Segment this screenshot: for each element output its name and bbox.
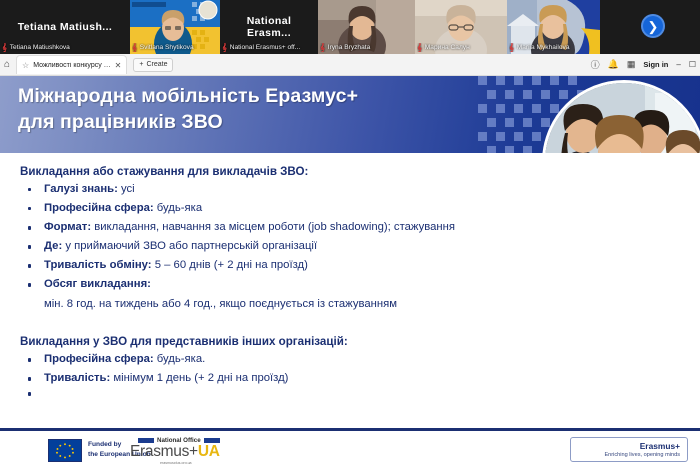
screen-root: Tetiana Matiush... 𝄞 Tetiana Matiushkova	[0, 0, 700, 464]
slide-title-line-2: для працівників ЗВО	[18, 109, 518, 135]
bullet-value: будь-яка.	[154, 353, 206, 365]
bell-icon[interactable]: 🔔	[608, 59, 619, 70]
list-item: Де: у приймаючий ЗВО або партнерській ор…	[14, 238, 686, 256]
participant-name-bar: 𝄞 Iryna Bryzhata	[320, 43, 413, 52]
slide-body: Викладання або стажування для викладачів…	[0, 153, 700, 398]
muted-mic-icon: 𝄞	[222, 44, 227, 52]
minimize-icon[interactable]: –	[676, 60, 680, 69]
badge-tagline: Enriching lives, opening minds	[604, 451, 680, 459]
participant-tile-5[interactable]: 𝄞 Марина Салун	[415, 0, 507, 54]
bullet-value: усі	[118, 183, 135, 195]
participant-name-bar: 𝄞 Mariia Mykhailova	[509, 43, 598, 52]
participant-name-label: Iryna Bryzhata	[328, 43, 371, 52]
muted-mic-icon: 𝄞	[2, 44, 7, 52]
bullet-list-1: Галузі знань: усі Професійна сфера: будь…	[14, 181, 686, 294]
apps-grid-icon[interactable]: ▦	[627, 59, 636, 70]
participant-name-bar: 𝄞 Svitlana Shytikova	[132, 43, 218, 52]
participant-name-label: Svitlana Shytikova	[140, 43, 194, 52]
participant-name-bar: 𝄞 Марина Салун	[417, 43, 505, 52]
bullet-value: викладання, навчання за місцем роботи (j…	[91, 221, 455, 233]
plus-icon: +	[139, 61, 143, 68]
browser-tab-title: Можливості конкурсу …	[33, 62, 110, 69]
list-item: Обсяг викладання:	[14, 276, 686, 294]
bullet-list-2: Професійна сфера: будь-яка. Тривалість: …	[14, 351, 686, 388]
participant-name-label: Tetiana Matiushkova	[10, 43, 70, 52]
muted-mic-icon: 𝄞	[509, 44, 514, 52]
participant-name-label: National Erasmus+ off...	[230, 43, 300, 52]
bullet-label: Тривалість обміну:	[44, 259, 152, 271]
bullet-label: Професійна сфера:	[44, 202, 154, 214]
erasmus-word: Erasmus+	[130, 443, 198, 460]
list-item: Професійна сфера: будь-яка.	[14, 351, 686, 369]
next-participants-button[interactable]: ❯	[641, 14, 665, 38]
participant-tile-1[interactable]: Tetiana Matiush... 𝄞 Tetiana Matiushkova	[0, 0, 130, 54]
home-icon[interactable]: ⌂	[4, 59, 10, 70]
bullet-label: Професійна сфера:	[44, 353, 154, 365]
badge-title: Erasmus+	[640, 441, 680, 451]
list-item: Формат: викладання, навчання за місцем р…	[14, 219, 686, 237]
list-item: Тривалість: мінімум 1 день (+ 2 дні на п…	[14, 370, 686, 388]
slide-footer: Funded by the European Union National Of…	[0, 428, 700, 464]
participant-name-label: Mariia Mykhailova	[517, 43, 570, 52]
list-item: Галузі знань: усі	[14, 181, 686, 199]
participant-tile-4[interactable]: 𝄞 Iryna Bryzhata	[318, 0, 415, 54]
erasmus-ua-wordmark: Erasmus+UA	[130, 443, 220, 461]
muted-mic-icon: 𝄞	[132, 44, 137, 52]
bullet-value: 5 – 60 днів (+ 2 дні на проїзд)	[152, 259, 308, 271]
maximize-icon[interactable]: ☐	[689, 60, 696, 69]
bullet-value: мінімум 1 день (+ 2 дні на проїзд)	[110, 372, 288, 384]
new-tab-button[interactable]: + Create	[133, 58, 173, 72]
browser-tab-bar: ⌂ ☆ Можливості конкурсу … ✕ + Create ⓘ 🔔…	[0, 54, 700, 76]
browser-tab-active[interactable]: ☆ Можливості конкурсу … ✕	[16, 55, 127, 74]
bullet-label: Галузі знань:	[44, 183, 118, 195]
browser-toolbar-right: ⓘ 🔔 ▦ Sign in – ☐	[591, 58, 696, 71]
national-office-logo: National Office Erasmus+UA erasmusplus.o…	[130, 437, 250, 464]
bullet-label: Тривалість:	[44, 372, 110, 384]
muted-mic-icon: 𝄞	[417, 44, 422, 52]
help-circle-icon[interactable]: ⓘ	[591, 58, 600, 71]
star-icon: ☆	[22, 61, 29, 70]
close-icon[interactable]: ✕	[115, 61, 122, 70]
erasmus-ua-suffix: UA	[198, 443, 220, 460]
list-item: Професійна сфера: будь-яка	[14, 200, 686, 218]
participant-tile-3[interactable]: National Erasm... 𝄞 National Erasmus+ of…	[220, 0, 318, 54]
eu-flag-icon	[48, 439, 82, 462]
muted-mic-icon: 𝄞	[320, 44, 325, 52]
participant-name-label: Марина Салун	[425, 43, 470, 52]
bullet-value: будь-яка	[154, 202, 202, 214]
participant-tile-2[interactable]: 𝄞 Svitlana Shytikova	[130, 0, 220, 54]
section-heading-1: Викладання або стажування для викладачів…	[20, 165, 686, 178]
slide-title-line-1: Міжнародна мобільність Еразмус+	[18, 83, 518, 109]
page-title: Міжнародна мобільність Еразмус+ для прац…	[18, 83, 518, 135]
participant-tile-6[interactable]: 𝄞 Mariia Mykhailova	[507, 0, 600, 54]
bullet-label: Де:	[44, 240, 62, 252]
bullet-label: Формат:	[44, 221, 91, 233]
presentation-slide: Міжнародна мобільність Еразмус+ для прац…	[0, 76, 700, 464]
list-item: Тривалість обміну: 5 – 60 днів (+ 2 дні …	[14, 257, 686, 275]
bullet-label: Обсяг викладання:	[44, 278, 151, 290]
new-tab-label: Create	[146, 61, 167, 68]
chevron-right-icon: ❯	[648, 20, 659, 33]
list-item-truncated	[14, 389, 686, 398]
slide-header: Міжнародна мобільність Еразмус+ для прац…	[0, 76, 700, 153]
zoom-participant-strip: Tetiana Matiush... 𝄞 Tetiana Matiushkova	[0, 0, 700, 54]
participant-name-bar: 𝄞 Tetiana Matiushkova	[2, 43, 128, 52]
section-1-subline: мін. 8 год. на тиждень або 4 год., якщо …	[14, 296, 686, 314]
participant-name-bar: 𝄞 National Erasmus+ off...	[222, 43, 316, 52]
section-heading-2: Викладання у ЗВО для представників інших…	[20, 335, 686, 348]
erasmus-plus-badge: Erasmus+ Enriching lives, opening minds	[570, 437, 688, 462]
sign-in-button[interactable]: Sign in	[643, 60, 668, 69]
section-gap	[14, 313, 686, 335]
bullet-value: у приймаючий ЗВО або партнерській органі…	[62, 240, 317, 252]
